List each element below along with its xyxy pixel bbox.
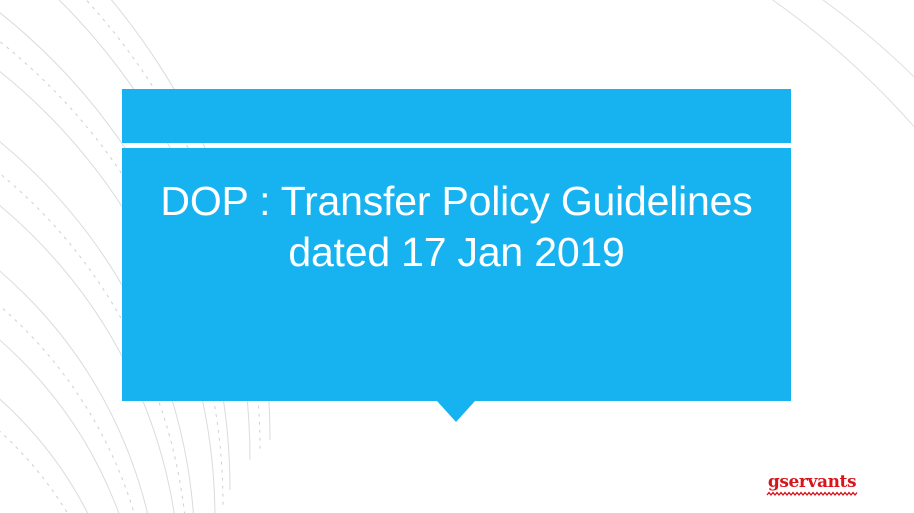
callout-body: DOP : Transfer Policy Guidelines dated 1… xyxy=(122,148,791,401)
callout-top-bar xyxy=(122,89,791,143)
gservants-logo: gservants xyxy=(766,473,858,500)
slide-canvas: DOP : Transfer Policy Guidelines dated 1… xyxy=(0,0,914,513)
page-title-line-1: DOP : Transfer Policy Guidelines xyxy=(136,176,777,227)
logo-wavy-underline-icon xyxy=(766,491,858,497)
title-callout: DOP : Transfer Policy Guidelines dated 1… xyxy=(122,89,791,401)
callout-tail-icon xyxy=(437,401,475,422)
gservants-logo-text: gservants xyxy=(766,473,858,492)
page-title-line-2: dated 17 Jan 2019 xyxy=(136,227,777,278)
page-title: DOP : Transfer Policy Guidelines dated 1… xyxy=(136,176,777,278)
